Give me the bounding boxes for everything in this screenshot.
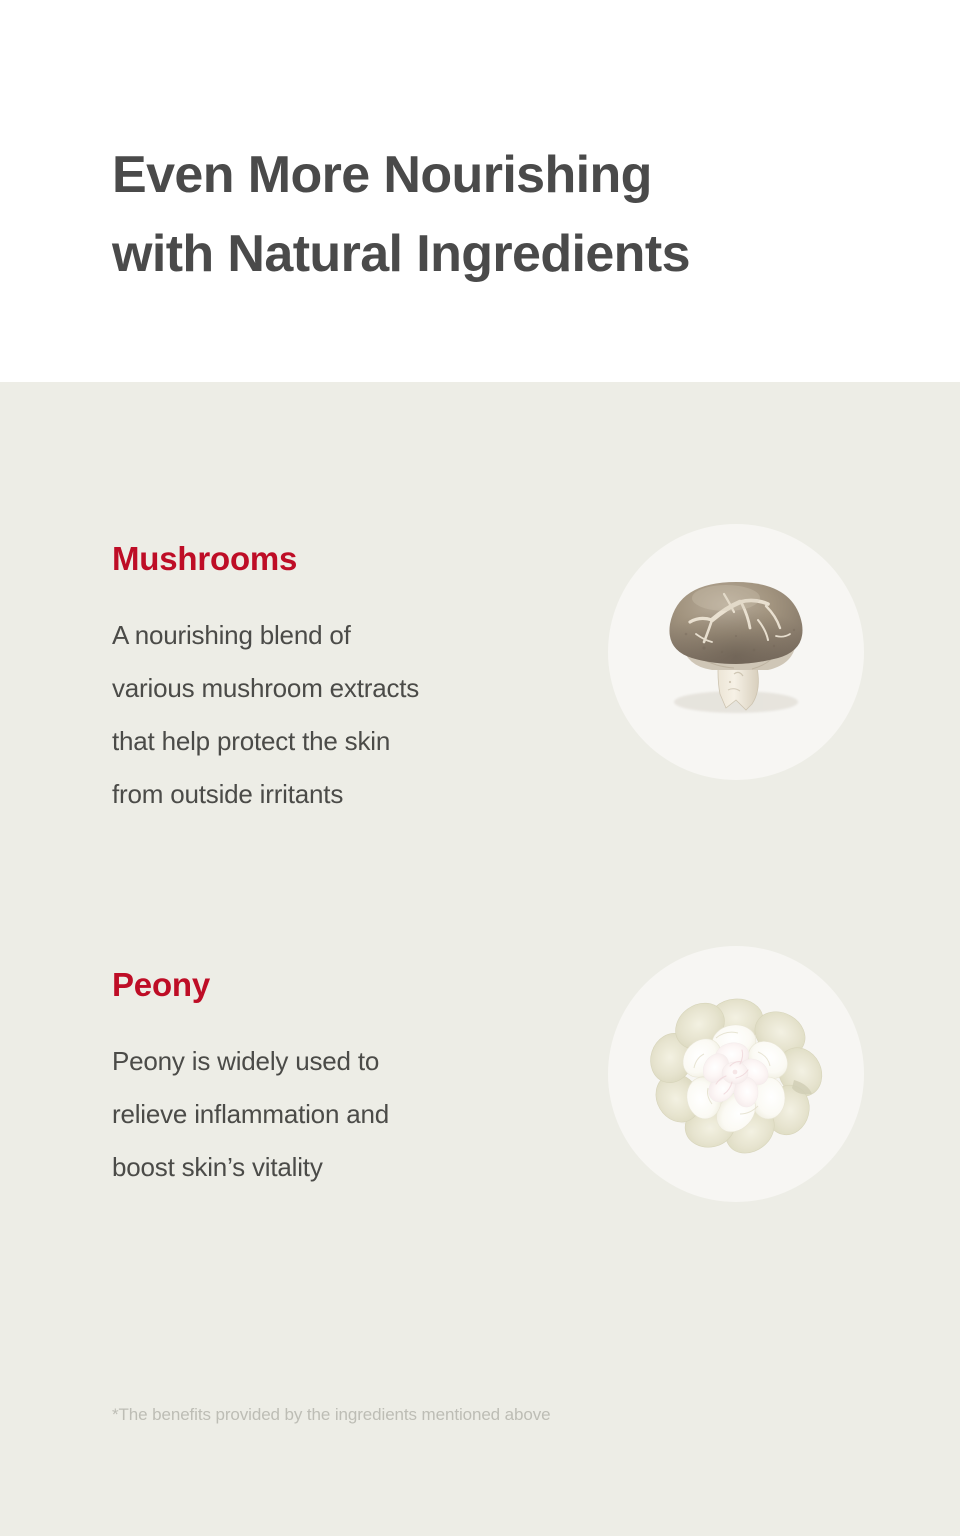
header-band: Even More Nourishing with Natural Ingred…	[0, 0, 960, 382]
ingredients-section: Mushrooms A nourishing blend of various …	[0, 382, 960, 1536]
ingredients-page: Even More Nourishing with Natural Ingred…	[0, 0, 960, 1536]
ingredient-name-mushrooms: Mushrooms	[112, 542, 582, 575]
ingredient-description-peony: Peony is widely used to relieve inflamma…	[112, 1035, 582, 1194]
ingredient-name-peony: Peony	[112, 968, 582, 1001]
mushroom-photo	[608, 524, 864, 780]
ingredient-image-circle-peony	[608, 946, 864, 1202]
page-title: Even More Nourishing with Natural Ingred…	[112, 136, 872, 294]
ingredient-text-block: Peony Peony is widely used to relieve in…	[112, 968, 582, 1194]
ingredient-description-mushrooms: A nourishing blend of various mushroom e…	[112, 609, 582, 821]
ingredient-text-block: Mushrooms A nourishing blend of various …	[112, 542, 582, 821]
ingredients-footnote: *The benefits provided by the ingredient…	[112, 1404, 550, 1426]
peony-flower-photo	[608, 946, 864, 1202]
ingredient-image-circle-mushrooms	[608, 524, 864, 780]
